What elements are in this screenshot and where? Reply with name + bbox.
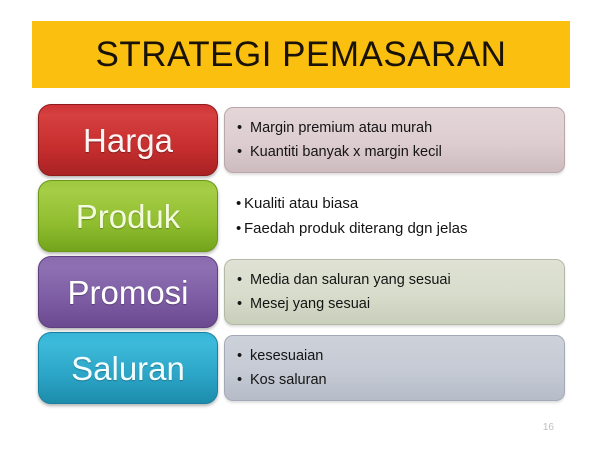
bullet-text: Kualiti atau biasa xyxy=(244,195,358,212)
bullet-marker-icon: • xyxy=(237,292,250,316)
category-chip-saluran[interactable]: Saluran xyxy=(38,332,218,404)
bullet-marker-icon: • xyxy=(237,268,250,292)
bullet-text: Media dan saluran yang sesuai xyxy=(250,272,451,288)
bullet-text: Kuantiti banyak x margin kecil xyxy=(250,144,442,160)
bullet-marker-icon: • xyxy=(237,116,250,140)
bullet-marker-icon: • xyxy=(237,344,250,368)
category-label-saluran: Saluran xyxy=(71,352,185,385)
category-chip-harga[interactable]: Harga xyxy=(38,104,218,176)
bullet-text: Mesej yang sesuai xyxy=(250,296,370,312)
category-label-harga: Harga xyxy=(83,124,173,157)
strategy-row-produk: Produk •Kualiti atau biasa •Faedah produ… xyxy=(0,180,600,252)
detail-box-produk: •Kualiti atau biasa •Faedah produk diter… xyxy=(224,183,565,249)
category-chip-promosi[interactable]: Promosi xyxy=(38,256,218,328)
detail-box-saluran: •kesesuaian •Kos saluran xyxy=(224,335,565,401)
slide-title-banner: STRATEGI PEMASARAN xyxy=(32,21,570,88)
category-chip-produk[interactable]: Produk xyxy=(38,180,218,252)
presentation-slide: STRATEGI PEMASARAN Harga •Margin premium… xyxy=(0,0,600,449)
bullet-marker-icon: • xyxy=(237,140,250,164)
strategy-row-saluran: Saluran •kesesuaian •Kos saluran xyxy=(0,332,600,404)
category-label-promosi: Promosi xyxy=(67,276,188,309)
detail-box-promosi: •Media dan saluran yang sesuai •Mesej ya… xyxy=(224,259,565,325)
bullet-text: Faedah produk diterang dgn jelas xyxy=(244,220,468,237)
bullet-marker-icon: • xyxy=(236,191,244,216)
bullet-item: •kesesuaian xyxy=(237,344,564,368)
bullet-item: •Kos saluran xyxy=(237,368,564,392)
bullet-text: kesesuaian xyxy=(250,348,323,364)
bullet-item: •Faedah produk diterang dgn jelas xyxy=(236,216,565,241)
bullet-item: •Kuantiti banyak x margin kecil xyxy=(237,140,564,164)
strategy-row-promosi: Promosi •Media dan saluran yang sesuai •… xyxy=(0,256,600,328)
bullet-item: •Mesej yang sesuai xyxy=(237,292,564,316)
slide-title: STRATEGI PEMASARAN xyxy=(96,35,507,75)
category-label-produk: Produk xyxy=(76,200,181,233)
bullet-marker-icon: • xyxy=(236,216,244,241)
strategy-row-harga: Harga •Margin premium atau murah •Kuanti… xyxy=(0,104,600,176)
bullet-text: Kos saluran xyxy=(250,372,327,388)
bullet-item: •Media dan saluran yang sesuai xyxy=(237,268,564,292)
bullet-item: •Margin premium atau murah xyxy=(237,116,564,140)
slide-page-number: 16 xyxy=(543,422,554,433)
bullet-text: Margin premium atau murah xyxy=(250,120,432,136)
bullet-item: •Kualiti atau biasa xyxy=(236,191,565,216)
detail-box-harga: •Margin premium atau murah •Kuantiti ban… xyxy=(224,107,565,173)
bullet-marker-icon: • xyxy=(237,368,250,392)
